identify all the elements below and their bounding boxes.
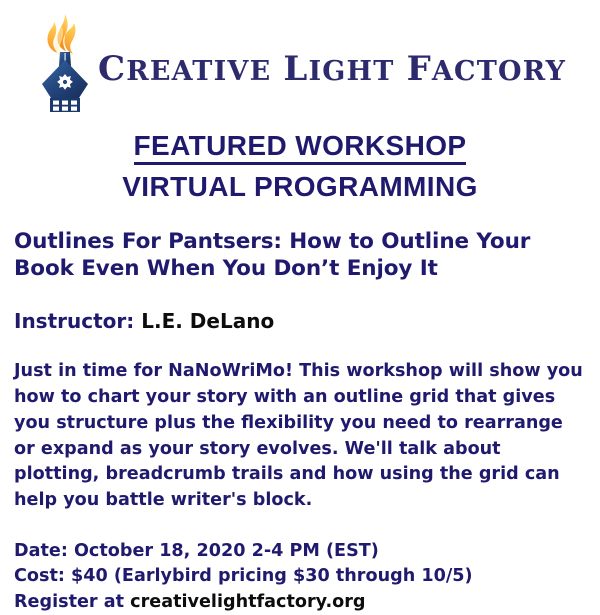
event-details: Date: October 18, 2020 2-4 PM (EST) Cost…	[14, 539, 586, 615]
virtual-programming-heading: VIRTUAL PROGRAMMING	[0, 170, 600, 204]
logo-wordmark: CREATIVELIGHTFACTORY	[98, 52, 566, 86]
logo-word-2-rest: IGHT	[308, 56, 394, 87]
main-content: Outlines For Pantsers: How to Outline Yo…	[0, 228, 600, 615]
heading-block: FEATURED WORKSHOP VIRTUAL PROGRAMMING	[0, 130, 600, 204]
lighthouse-torch-logo-icon	[34, 6, 96, 114]
featured-workshop-heading-wrap: FEATURED WORKSHOP	[0, 130, 600, 165]
logo-word-3-rest: ACTORY	[432, 56, 566, 87]
event-date-line: Date: October 18, 2020 2-4 PM (EST)	[14, 539, 586, 564]
workshop-title: Outlines For Pantsers: How to Outline Yo…	[14, 228, 586, 283]
register-url[interactable]: creativelightfactory.org	[130, 592, 365, 612]
instructor-line: Instructor: L.E. DeLano	[14, 309, 586, 333]
instructor-name: L.E. DeLano	[141, 309, 274, 333]
instructor-label: Instructor:	[14, 309, 134, 333]
logo-word-1-rest: REATIVE	[126, 56, 271, 87]
featured-workshop-heading: FEATURED WORKSHOP	[134, 130, 467, 165]
logo-word-1-cap: C	[98, 49, 126, 89]
logo-word-2-cap: L	[283, 49, 308, 89]
register-label: Register at	[14, 592, 124, 612]
event-cost-line: Cost: $40 (Earlybird pricing $30 through…	[14, 564, 586, 589]
logo-header: CREATIVELIGHTFACTORY	[0, 0, 600, 118]
workshop-description: Just in time for NaNoWriMo! This worksho…	[14, 359, 586, 514]
register-line: Register at creativelightfactory.org	[14, 590, 586, 615]
logo-word-3-cap: F	[407, 49, 432, 89]
